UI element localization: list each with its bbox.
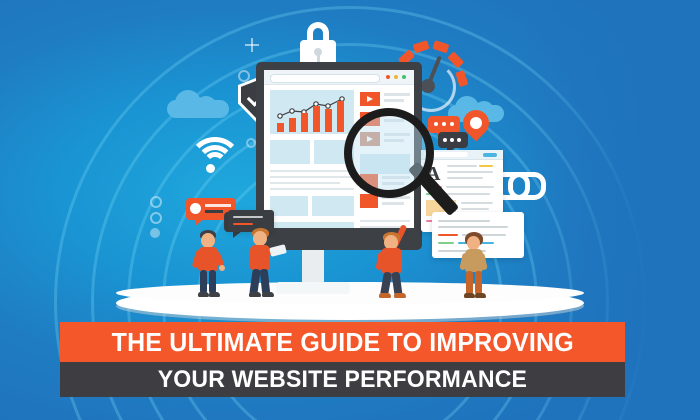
monitor-stand-neck xyxy=(302,248,324,286)
person-standing-left xyxy=(192,230,224,298)
bar-chart xyxy=(274,94,348,132)
title-line-1: THE ULTIMATE GUIDE TO IMPROVING xyxy=(111,327,573,358)
infographic-banner: A xyxy=(0,0,700,420)
window-dot-yellow[interactable] xyxy=(394,75,398,79)
window-dot-red[interactable] xyxy=(386,75,390,79)
person-with-laptop xyxy=(244,228,278,298)
title-banner-primary: THE ULTIMATE GUIDE TO IMPROVING xyxy=(60,322,625,362)
browser-toolbar xyxy=(264,70,414,85)
wifi-icon xyxy=(188,137,232,171)
content-block xyxy=(270,196,308,216)
magnifying-glass xyxy=(344,108,434,198)
person-right-standing xyxy=(458,232,490,298)
ring-dot-icon xyxy=(238,70,250,82)
chat-bubble-icon xyxy=(428,116,460,133)
title-banner-secondary: YOUR WEBSITE PERFORMANCE xyxy=(60,362,625,397)
sparkle-icon xyxy=(245,38,259,52)
content-block xyxy=(312,196,354,216)
window-dot-green[interactable] xyxy=(402,75,406,79)
stage-pedestal-top xyxy=(116,282,584,304)
location-pin-icon xyxy=(463,110,491,146)
content-block xyxy=(270,222,354,228)
monitor-stand-base xyxy=(276,282,350,294)
ring-dot-icon xyxy=(246,138,256,148)
title-line-2: YOUR WEBSITE PERFORMANCE xyxy=(158,366,527,394)
person-pointing-up xyxy=(376,228,410,298)
video-thumbnail[interactable] xyxy=(360,92,380,106)
content-block xyxy=(270,140,310,164)
cloud-icon xyxy=(167,88,229,118)
padlock-icon xyxy=(298,22,338,66)
browser-url-bar[interactable] xyxy=(270,74,380,83)
